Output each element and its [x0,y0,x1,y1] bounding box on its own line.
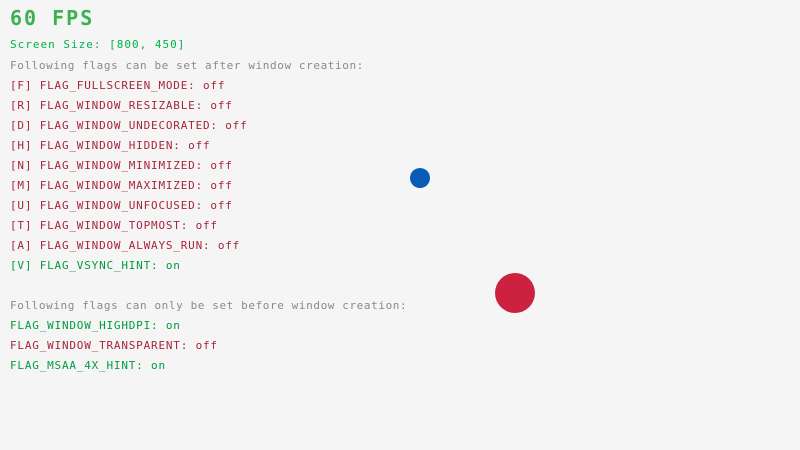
flag-line-flag-window-undecorated[interactable]: [D] FLAG_WINDOW_UNDECORATED: off [10,120,248,131]
flag-line-flag-window-transparent[interactable]: FLAG_WINDOW_TRANSPARENT: off [10,340,218,351]
runtime-flags-heading: Following flags can be set after window … [10,60,364,71]
fps-counter: 60 FPS [10,8,94,28]
flag-line-flag-fullscreen-mode[interactable]: [F] FLAG_FULLSCREEN_MODE: off [10,80,225,91]
flag-line-flag-window-minimized[interactable]: [N] FLAG_WINDOW_MINIMIZED: off [10,160,233,171]
startup-flags-heading: Following flags can only be set before w… [10,300,407,311]
flag-line-flag-window-resizable[interactable]: [R] FLAG_WINDOW_RESIZABLE: off [10,100,233,111]
bouncing-ball-red [495,273,535,313]
bouncing-ball-blue [410,168,430,188]
raylib-window-canvas: 60 FPS Screen Size: [800, 450] Following… [0,0,800,450]
flag-line-flag-window-topmost[interactable]: [T] FLAG_WINDOW_TOPMOST: off [10,220,218,231]
screen-size-label: Screen Size: [800, 450] [10,39,185,50]
flag-line-flag-window-hidden[interactable]: [H] FLAG_WINDOW_HIDDEN: off [10,140,210,151]
flag-line-flag-msaa-4x-hint[interactable]: FLAG_MSAA_4X_HINT: on [10,360,166,371]
flag-line-flag-window-always-run[interactable]: [A] FLAG_WINDOW_ALWAYS_RUN: off [10,240,240,251]
flag-line-flag-window-maximized[interactable]: [M] FLAG_WINDOW_MAXIMIZED: off [10,180,233,191]
flag-line-flag-vsync-hint[interactable]: [V] FLAG_VSYNC_HINT: on [10,260,181,271]
flag-line-flag-window-highdpi[interactable]: FLAG_WINDOW_HIGHDPI: on [10,320,181,331]
flag-line-flag-window-unfocused[interactable]: [U] FLAG_WINDOW_UNFOCUSED: off [10,200,233,211]
